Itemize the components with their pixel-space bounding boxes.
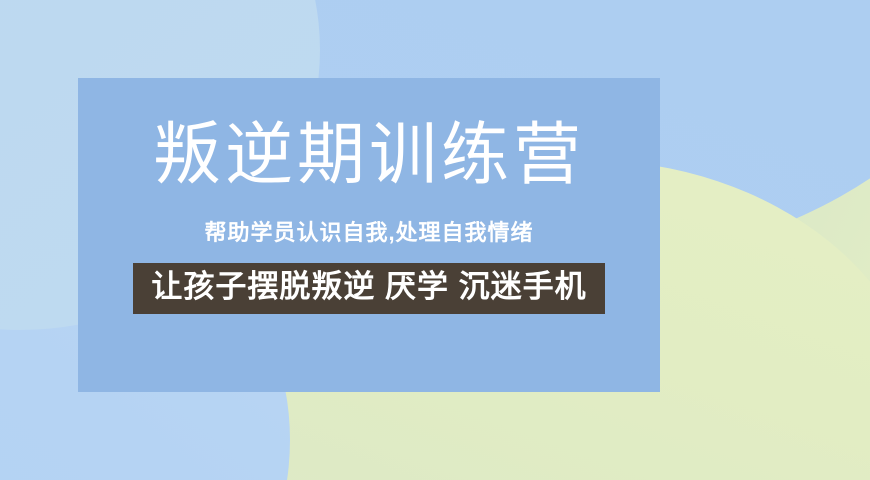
highlight-banner: 让孩子摆脱叛逆 厌学 沉迷手机 [133, 263, 604, 314]
poster-canvas: 叛逆期训练营 帮助学员认识自我,处理自我情绪 让孩子摆脱叛逆 厌学 沉迷手机 [0, 0, 870, 480]
page-subtitle: 帮助学员认识自我,处理自我情绪 [204, 215, 533, 247]
page-title: 叛逆期训练营 [153, 120, 585, 191]
content-card: 叛逆期训练营 帮助学员认识自我,处理自我情绪 让孩子摆脱叛逆 厌学 沉迷手机 [78, 78, 660, 392]
